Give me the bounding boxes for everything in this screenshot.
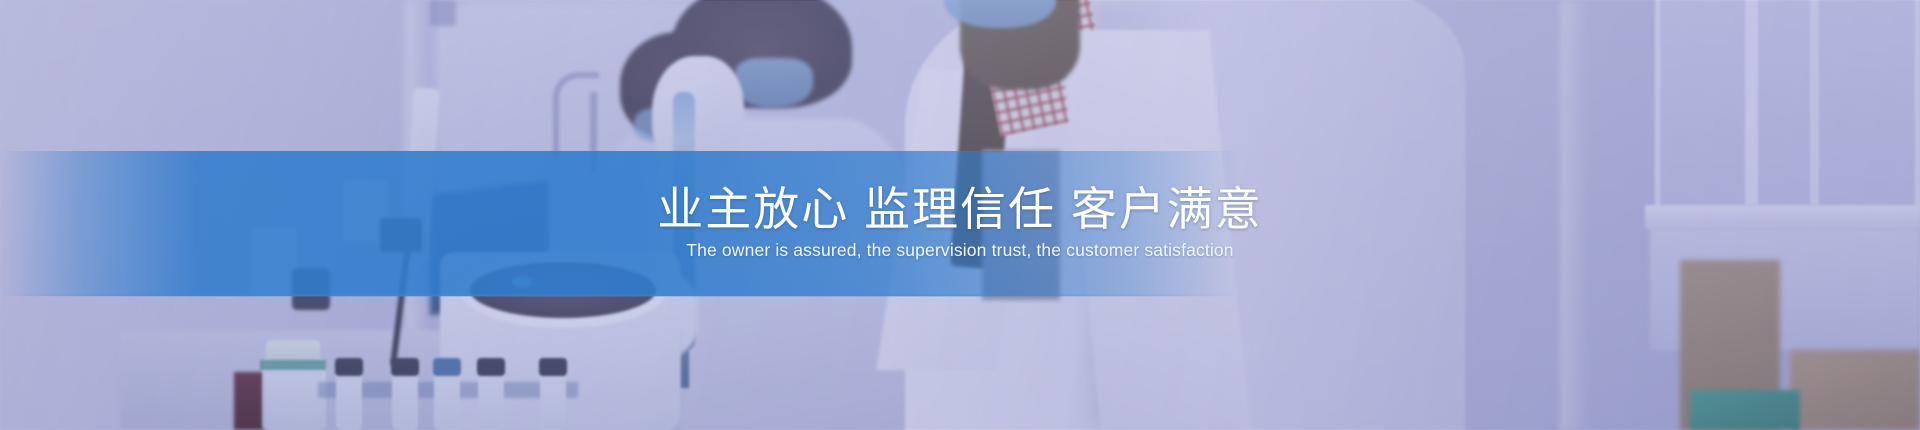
banner-headline: 业主放心 监理信任 客户满意 (657, 186, 1263, 234)
banner-subline: The owner is assured, the supervision tr… (686, 240, 1233, 261)
caption-content: 业主放心 监理信任 客户满意 The owner is assured, the… (0, 151, 1920, 296)
hero-banner: 业主放心 监理信任 客户满意 The owner is assured, the… (0, 0, 1920, 430)
